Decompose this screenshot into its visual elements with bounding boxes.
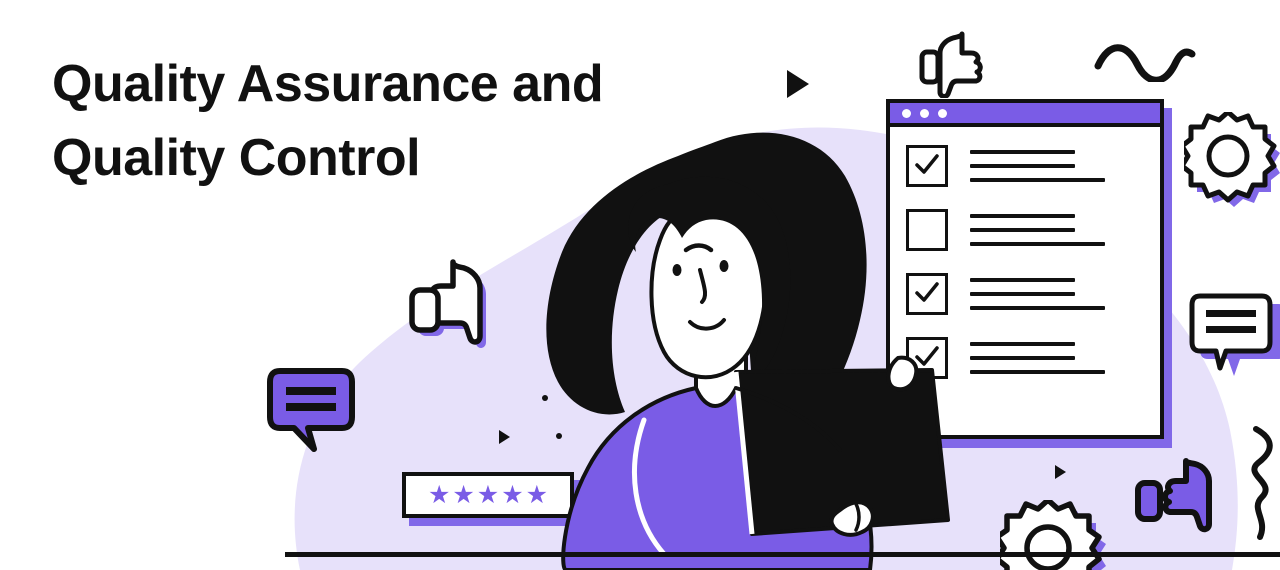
vertical-squiggle-icon [1248, 425, 1280, 543]
page-title: Quality Assurance and Quality Control [52, 48, 752, 196]
decorative-triangle [1055, 465, 1066, 479]
thumbs-up-icon-purple[interactable] [1132, 455, 1228, 547]
illustration-canvas: Quality Assurance and Quality Control [0, 0, 1280, 570]
window-dot-2 [920, 109, 929, 118]
speech-bubble-icon-purple[interactable] [264, 365, 362, 457]
ground-line [285, 552, 1280, 557]
star-icon-2[interactable]: ★ [452, 483, 474, 508]
window-dot-3 [938, 109, 947, 118]
thumbs-down-icon[interactable] [918, 28, 992, 98]
page-title-line-2: Quality Control [52, 122, 752, 196]
page-title-line-1: Quality Assurance and [52, 48, 752, 122]
gear-icon-bottom [1000, 500, 1110, 570]
speech-bubble-icon-white[interactable] [1186, 288, 1280, 376]
checklist-text-lines-2 [970, 209, 1144, 246]
window-dot-1 [902, 109, 911, 118]
wave-squiggle-icon [1093, 44, 1197, 82]
gear-icon-top [1184, 112, 1280, 216]
checklist-text-lines-4 [970, 337, 1144, 374]
star-icon-3[interactable]: ★ [477, 483, 499, 508]
thumbs-up-icon-white[interactable] [408, 258, 512, 358]
play-triangle-icon[interactable] [787, 70, 809, 98]
checklist-text-lines-1 [970, 145, 1144, 182]
star-icon-1[interactable]: ★ [428, 483, 450, 508]
checklist-text-lines-3 [970, 273, 1144, 310]
